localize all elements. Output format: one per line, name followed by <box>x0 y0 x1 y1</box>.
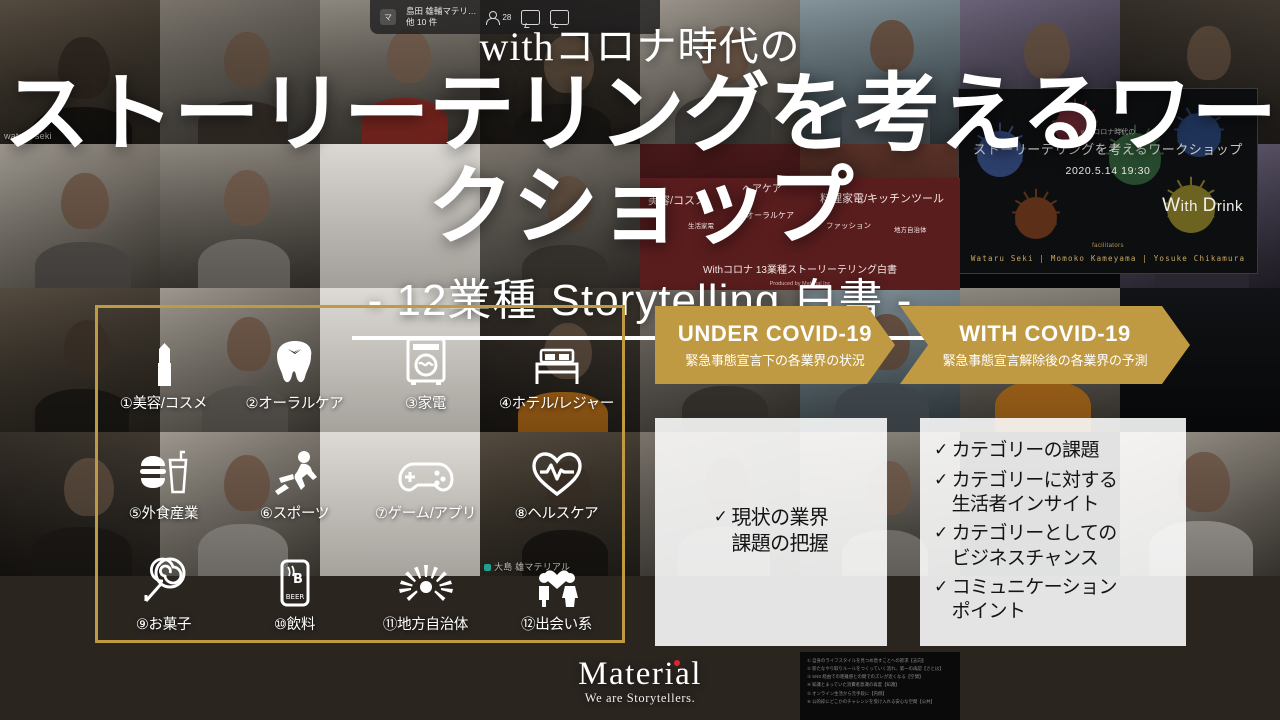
category-label: ⑦ゲーム/アプリ <box>375 502 476 523</box>
participants-count[interactable]: 28 <box>486 11 511 24</box>
wordcloud-item: ヘアケア <box>742 180 782 195</box>
banner-subtitle: 緊急事態宣言下の各業界の状況 <box>685 350 864 369</box>
category-item-5[interactable]: ⑤外食産業 <box>98 419 229 530</box>
check-icon: ✓ <box>934 469 948 491</box>
category-item-1[interactable]: ①美容/コスメ <box>98 308 229 419</box>
category-label: ②オーラルケア <box>246 392 344 413</box>
checklist-text: 現状の業界 課題の把握 <box>731 506 828 557</box>
burger-drink-icon <box>137 440 191 496</box>
lipstick-icon <box>149 330 179 386</box>
checklist-text: カテゴリーの課題 <box>952 439 1099 463</box>
couple-heart-icon <box>533 551 581 607</box>
shared-screen-slide: withコロナ時代の ストーリーテリングを考えるワークショップ 2020.5.1… <box>958 88 1258 274</box>
category-label: ⑩飲料 <box>274 613 315 634</box>
checklist-item: ✓ カテゴリーとしての ビジネスチャンス <box>934 522 1172 571</box>
shared-slide-title: ストーリーテリングを考えるワークショップ <box>959 139 1257 158</box>
facilitators-label: facilitators <box>959 243 1257 249</box>
category-label: ⑨お菓子 <box>136 613 191 634</box>
category-item-3[interactable]: ③家電 <box>360 308 491 419</box>
category-item-8[interactable]: ⑧ヘルスケア <box>491 419 622 530</box>
zoom-top-toolbar[interactable]: マ 島田 雄輔マテリ… 他 10 件 28 <box>370 0 660 34</box>
category-item-6[interactable]: ⑥スポーツ <box>229 419 360 530</box>
wordcloud-item: ファッション <box>826 220 871 231</box>
banner-subtitle: 緊急事態宣言解除後の各業界の予測 <box>943 350 1148 369</box>
category-label: ⑥スポーツ <box>260 502 329 523</box>
wordcloud-caption: Withコロナ 13業種ストーリーテリング白書 <box>640 261 960 276</box>
wordcloud-item: 料理家電/キッチンツール <box>820 190 944 206</box>
bed-icon <box>531 330 583 386</box>
video-tile[interactable] <box>640 0 800 144</box>
shared-slide-subtitle: withコロナ時代の <box>959 127 1257 137</box>
chat-icon-2[interactable] <box>550 10 569 25</box>
logo-tagline: We are Storytellers. <box>0 691 1280 706</box>
video-tile[interactable] <box>480 144 640 288</box>
chat-icon[interactable] <box>521 10 540 25</box>
lollipop-icon <box>140 551 188 607</box>
tooth-icon <box>274 330 316 386</box>
video-tile[interactable] <box>800 0 960 144</box>
svg-text:B: B <box>293 572 303 587</box>
check-icon: ✓ <box>714 506 728 528</box>
banner-title: WITH COVID-19 <box>959 321 1131 347</box>
checklist-item: ✓ カテゴリーに対する 生活者インサイト <box>934 469 1172 518</box>
checklist-item: ✓ カテゴリーの課題 <box>934 439 1172 463</box>
banner-under-covid: UNDER COVID-19 緊急事態宣言下の各業界の状況 <box>655 306 895 384</box>
sunburst-icon <box>399 551 453 607</box>
category-item-4[interactable]: ④ホテル/レジャー <box>491 308 622 419</box>
presentation-slide: wataru seki <box>0 0 1280 720</box>
video-tile[interactable] <box>320 144 480 288</box>
logo-name: Material <box>578 656 702 693</box>
banner-with-covid: WITH COVID-19 緊急事態宣言解除後の各業界の予測 <box>900 306 1190 384</box>
video-tile[interactable] <box>0 144 160 288</box>
wordcloud-item: 地方自治体 <box>894 224 927 234</box>
category-label: ⑧ヘルスケア <box>515 502 599 523</box>
check-icon: ✓ <box>934 522 948 544</box>
runner-icon <box>271 440 319 496</box>
svg-text:BEER: BEER <box>285 593 304 601</box>
wordcloud-item: 生活家電 <box>688 220 714 230</box>
participants-icon <box>486 11 499 24</box>
category-item-2[interactable]: ②オーラルケア <box>229 308 360 419</box>
beer-can-icon: BBEER <box>277 551 313 607</box>
category-grid: ①美容/コスメ ②オーラルケア ③家電 ④ホテル/レジャー ⑤外食産業 ⑥スポー… <box>95 305 625 643</box>
view-mode-tag[interactable]: マ <box>380 9 396 25</box>
banner-title: UNDER COVID-19 <box>678 321 872 347</box>
category-wordcloud-slide: 美容/コスメ ヘアケア 料理家電/キッチンツール オーラルケア 生活家電 ファッ… <box>640 178 960 290</box>
category-label: ④ホテル/レジャー <box>499 392 614 413</box>
panel-category-topics: ✓ カテゴリーの課題 ✓ カテゴリーに対する 生活者インサイト ✓ カテゴリーと… <box>920 418 1186 646</box>
shared-slide-datetime: 2020.5.14 19:30 <box>959 165 1257 177</box>
checklist-text: コミュニケーション ポイント <box>952 576 1117 625</box>
active-speaker-label: 島田 雄輔マテリ… 他 10 件 <box>406 6 476 29</box>
category-label: ⑪地方自治体 <box>383 613 468 634</box>
category-label: ⑫出会い系 <box>521 613 592 634</box>
video-tile[interactable]: wataru seki <box>0 0 160 144</box>
category-label: ①美容/コスメ <box>120 392 207 413</box>
category-item-7[interactable]: ⑦ゲーム/アプリ <box>360 419 491 530</box>
panel-current-issues: ✓ 現状の業界 課題の把握 <box>655 418 887 646</box>
category-item-10[interactable]: BBEER ⑩飲料 <box>229 529 360 640</box>
checklist-item: ✓ コミュニケーション ポイント <box>934 576 1172 625</box>
category-label: ⑤外食産業 <box>129 502 199 523</box>
with-drink-label: With Drink <box>1162 195 1243 217</box>
checklist-item: ✓ 現状の業界 課題の把握 <box>714 506 829 557</box>
checklist-text: カテゴリーに対する 生活者インサイト <box>952 469 1118 518</box>
wordcloud-item: オーラルケア <box>746 210 794 221</box>
video-tile[interactable] <box>160 0 320 144</box>
material-logo: Material We are Storytellers. <box>0 656 1280 706</box>
gamepad-icon <box>398 440 454 496</box>
checklist-text: カテゴリーとしての ビジネスチャンス <box>952 522 1117 571</box>
category-label: ③家電 <box>405 392 446 413</box>
washing-machine-icon <box>405 330 447 386</box>
category-item-12[interactable]: ⑫出会い系 <box>491 529 622 640</box>
video-participant-name: wataru seki <box>4 131 52 141</box>
facilitators-names: Wataru Seki | Momoko Kameyama | Yosuke C… <box>959 254 1257 263</box>
check-icon: ✓ <box>934 439 948 461</box>
category-item-9[interactable]: ⑨お菓子 <box>98 529 229 640</box>
video-tile[interactable] <box>160 144 320 288</box>
virus-decoration <box>1015 197 1057 239</box>
wordcloud-item: 美容/コスメ <box>648 192 706 208</box>
wordcloud-producer: Produced by Material Inc <box>640 281 960 287</box>
category-item-11[interactable]: ⑪地方自治体 <box>360 529 491 640</box>
heart-pulse-icon <box>532 440 582 496</box>
check-icon: ✓ <box>934 576 948 598</box>
